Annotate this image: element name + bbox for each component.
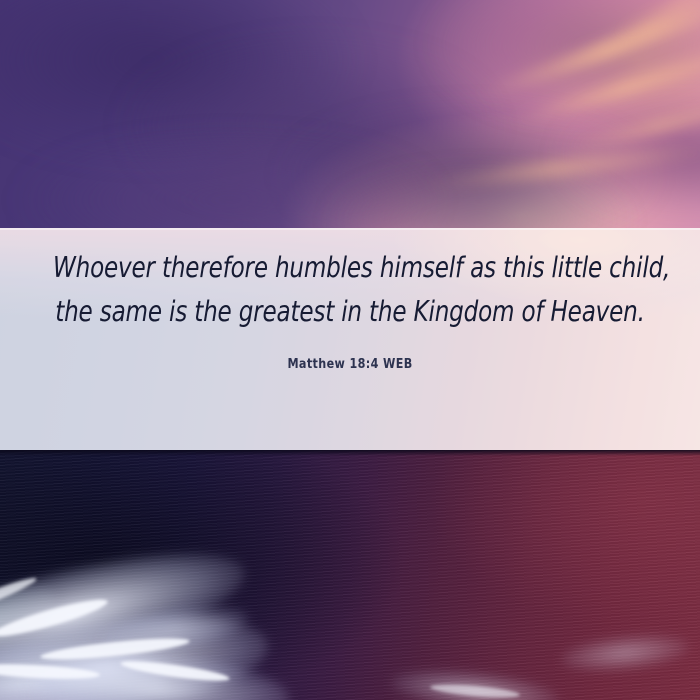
- ocean-ripple-texture-fine: [0, 450, 700, 700]
- cloud-center: [280, 110, 660, 232]
- verse-line-1: Whoever therefore humbles himself as thi…: [53, 246, 647, 290]
- verse-line-2: the same is the greatest in the Kingdom …: [53, 290, 647, 334]
- verse-image-canvas: Whoever therefore humbles himself as thi…: [0, 0, 700, 700]
- sky-background: [0, 0, 700, 232]
- cloud-lower-right: [330, 175, 630, 232]
- sun-streak-3: [547, 0, 700, 74]
- cloud-upper-mid: [120, 40, 500, 210]
- ocean-background: [0, 450, 700, 700]
- cloud-upper-right: [430, 0, 700, 120]
- sun-streak-2: [509, 39, 700, 128]
- horizon-line: [0, 450, 700, 456]
- verse-overlay-band: Whoever therefore humbles himself as thi…: [0, 228, 700, 452]
- sun-streak-4: [562, 92, 700, 155]
- sun-streak-1: [476, 0, 700, 101]
- sun-streak-6: [607, 0, 700, 41]
- cloud-right: [560, 95, 700, 215]
- cloud-lower-left: [20, 140, 440, 232]
- sun-streak-5: [420, 142, 700, 192]
- verse-text: Whoever therefore humbles himself as thi…: [53, 246, 647, 334]
- cloud-upper-left: [0, 0, 360, 160]
- verse-attribution: Matthew 18:4 WEB: [287, 356, 412, 372]
- verse-text-block: Whoever therefore humbles himself as thi…: [0, 228, 700, 452]
